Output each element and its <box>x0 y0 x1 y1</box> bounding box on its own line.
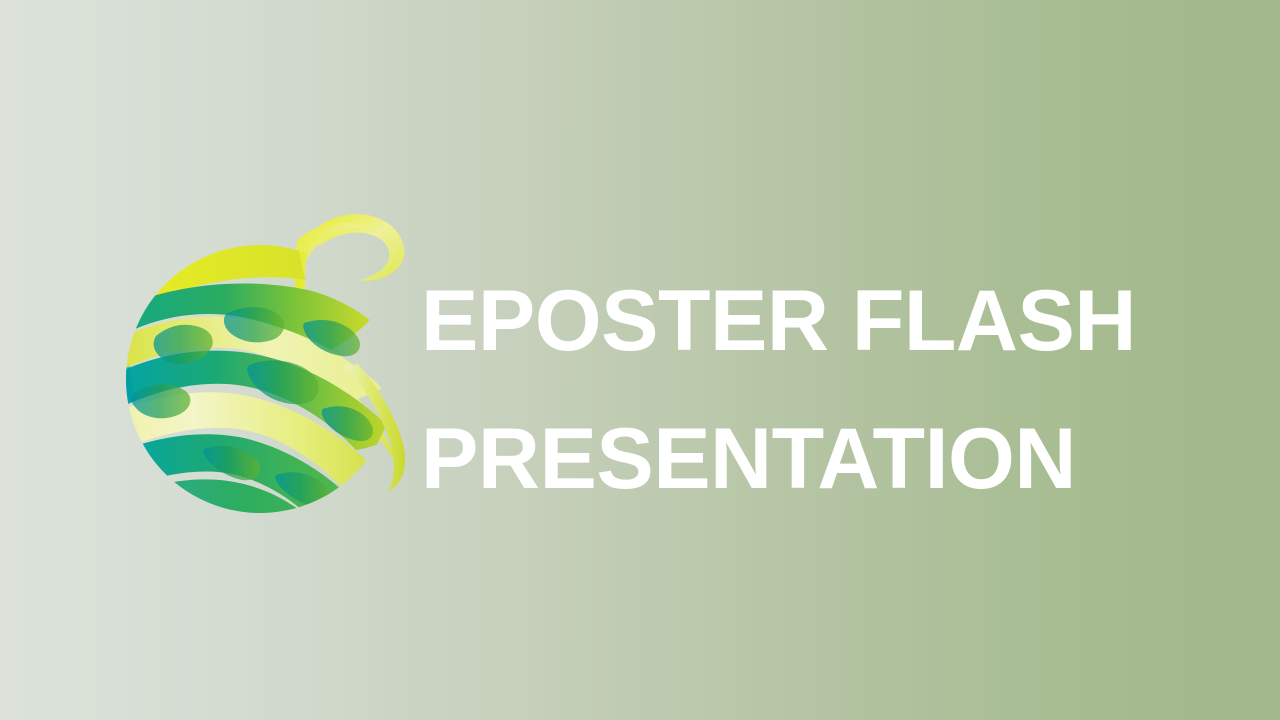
slide-title: EPOSTER FLASH PRESENTATION <box>421 252 1221 528</box>
globe-ribbon-logo <box>112 196 412 526</box>
title-line-2: PRESENTATION <box>421 390 1221 528</box>
presentation-slide: EPOSTER FLASH PRESENTATION <box>0 0 1280 720</box>
logo-globe-bands <box>112 240 398 526</box>
title-line-1: EPOSTER FLASH <box>421 252 1221 390</box>
